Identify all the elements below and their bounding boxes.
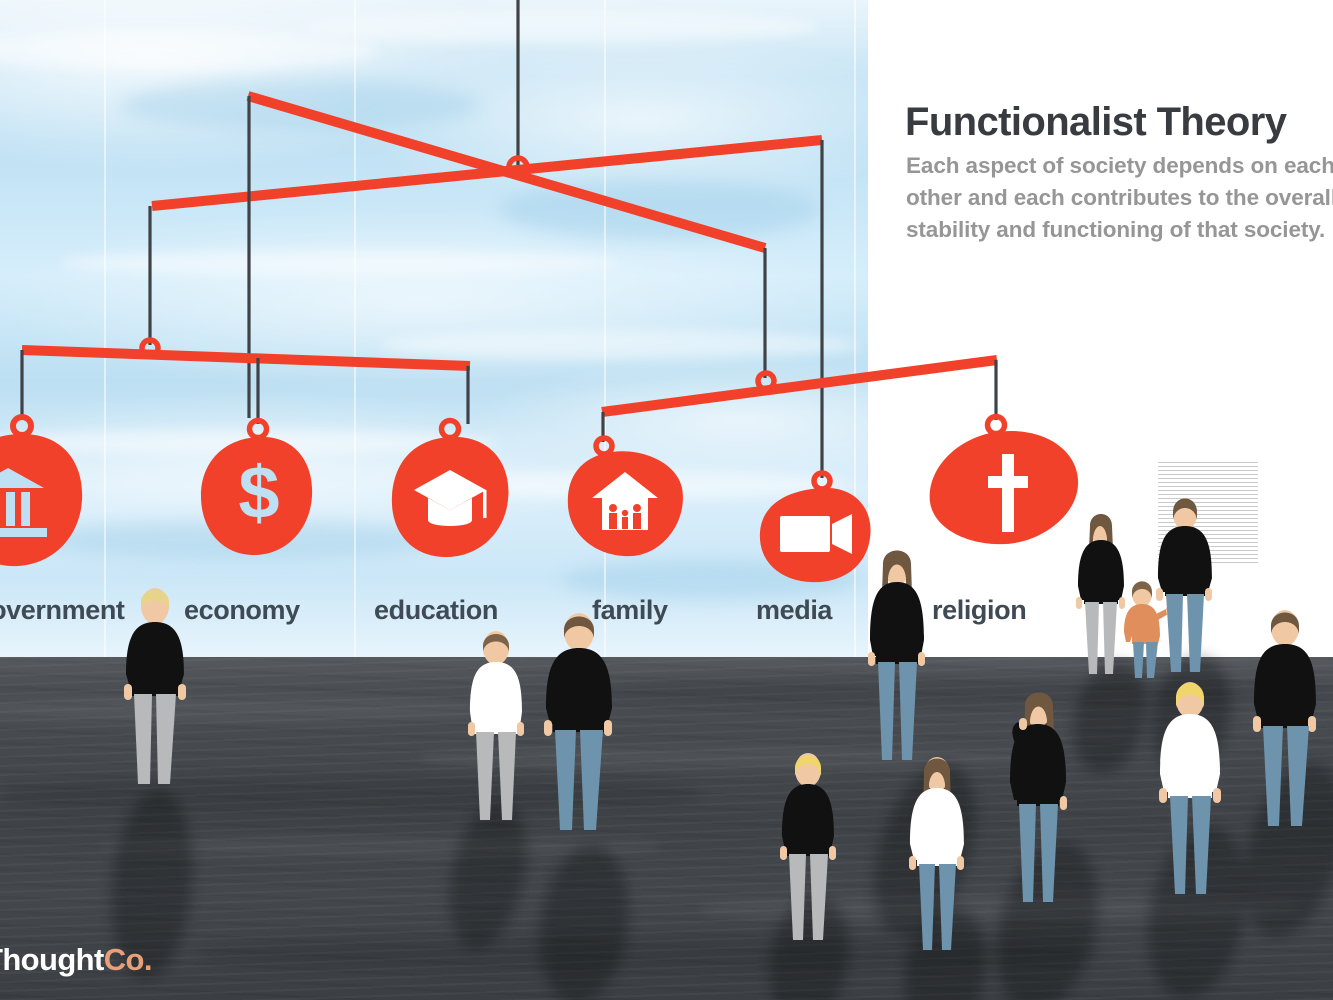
page-subtitle: Each aspect of society depends on each o… xyxy=(906,150,1333,246)
person-figure xyxy=(110,588,200,798)
pendant-family[interactable] xyxy=(562,436,692,568)
lower-left-beam-ring xyxy=(142,340,158,356)
pendant-label-religion: religion xyxy=(932,595,1026,626)
dollar-sign-icon: $ xyxy=(238,451,279,534)
logo-word-thought: Thought xyxy=(0,942,104,977)
svg-text:$: $ xyxy=(238,451,279,534)
person-figure xyxy=(898,756,976,956)
pendant-religion[interactable] xyxy=(926,414,1086,564)
person-figure xyxy=(770,752,846,948)
thoughtco-logo[interactable]: ThoughtCo. xyxy=(0,942,152,978)
pendant-label-media: media xyxy=(756,595,832,626)
person-figure xyxy=(1150,496,1220,680)
person-figure xyxy=(1242,608,1328,834)
pendant-economy[interactable]: $ xyxy=(198,418,322,568)
top-beam-right xyxy=(152,140,822,206)
lower-right-beam-ring xyxy=(758,373,774,389)
video-camera-icon xyxy=(780,514,852,554)
person-figure xyxy=(1148,680,1232,900)
infographic-canvas: $ xyxy=(0,0,1333,1000)
lower-beam-left xyxy=(22,350,470,366)
person-figure xyxy=(998,690,1078,910)
person-figure xyxy=(858,548,936,768)
pendant-label-economy: economy xyxy=(184,595,300,626)
logo-word-co: Co. xyxy=(104,942,152,977)
pendant-government[interactable] xyxy=(0,414,98,574)
person-figure xyxy=(534,612,624,840)
pendant-education[interactable] xyxy=(388,418,520,568)
page-title: Functionalist Theory xyxy=(905,100,1286,145)
pendant-label-government: government xyxy=(0,595,125,626)
person-figure xyxy=(456,630,536,830)
pendant-label-education: education xyxy=(374,595,498,626)
lower-beam-right xyxy=(602,360,997,412)
